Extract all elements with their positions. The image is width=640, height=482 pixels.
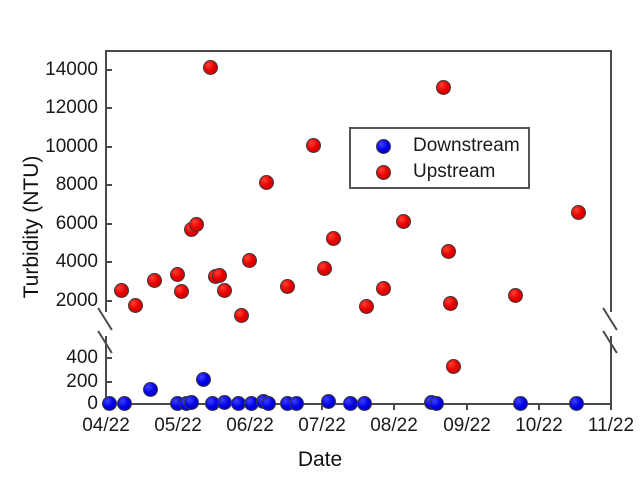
y-tick-14000 xyxy=(105,69,112,71)
y-tick-label-10000: 10000 xyxy=(45,137,98,156)
y-tick-label-12000: 12000 xyxy=(45,98,98,117)
y-tick-400 xyxy=(105,357,112,359)
data-point-upstream xyxy=(170,267,185,282)
x-tick-label-10-22: 10/22 xyxy=(499,416,579,435)
data-point-upstream xyxy=(114,283,129,298)
data-point-upstream xyxy=(376,281,391,296)
data-point-upstream xyxy=(396,214,411,229)
y-tick-10000 xyxy=(105,146,112,148)
x-tick-label-05-22: 05/22 xyxy=(138,416,218,435)
y-tick-4000 xyxy=(105,261,112,263)
x-tick-09-22 xyxy=(466,403,468,410)
data-point-downstream xyxy=(429,396,444,411)
y-axis-title: Turbidity (NTU) xyxy=(20,107,44,347)
chart-canvas: 14000 12000 10000 8000 6000 4000 2000 40… xyxy=(0,0,640,482)
y-tick-label-6000: 6000 xyxy=(56,214,98,233)
x-tick-label-11-22: 11/22 xyxy=(571,416,640,435)
legend-marker-upstream xyxy=(376,165,391,180)
y-tick-2000 xyxy=(105,300,112,302)
data-point-upstream xyxy=(571,205,586,220)
data-point-downstream xyxy=(143,382,158,397)
y-tick-label-400: 400 xyxy=(66,348,98,367)
data-point-upstream xyxy=(317,261,332,276)
data-point-upstream xyxy=(446,359,461,374)
x-tick-10-22 xyxy=(538,403,540,410)
x-tick-label-07-22: 07/22 xyxy=(282,416,362,435)
legend-item-upstream[interactable]: Upstream xyxy=(351,159,532,185)
x-tick-11-22 xyxy=(610,403,612,410)
legend-label-upstream: Upstream xyxy=(413,161,495,182)
y-tick-6000 xyxy=(105,223,112,225)
x-tick-label-08-22: 08/22 xyxy=(354,416,434,435)
data-point-downstream xyxy=(261,396,276,411)
data-point-downstream xyxy=(321,394,336,409)
data-point-upstream xyxy=(217,283,232,298)
y-tick-label-0: 0 xyxy=(87,394,98,413)
data-point-downstream xyxy=(357,396,372,411)
x-axis-title: Date xyxy=(0,448,640,472)
data-point-downstream xyxy=(196,372,211,387)
data-point-downstream xyxy=(343,396,358,411)
y-tick-200 xyxy=(105,381,112,383)
data-point-downstream xyxy=(117,396,132,411)
y-tick-label-2000: 2000 xyxy=(56,291,98,310)
data-point-upstream xyxy=(203,60,218,75)
y-tick-8000 xyxy=(105,184,112,186)
data-point-downstream xyxy=(513,396,528,411)
y-tick-label-200: 200 xyxy=(66,372,98,391)
data-point-upstream xyxy=(189,217,204,232)
data-point-upstream xyxy=(326,231,341,246)
y-tick-label-14000: 14000 xyxy=(45,60,98,79)
data-point-downstream xyxy=(217,395,232,410)
data-point-downstream xyxy=(289,396,304,411)
x-tick-label-09-22: 09/22 xyxy=(427,416,507,435)
data-point-upstream xyxy=(234,308,249,323)
chart-legend[interactable]: Downstream Upstream xyxy=(349,127,530,189)
legend-item-downstream[interactable]: Downstream xyxy=(351,133,532,159)
data-point-upstream xyxy=(508,288,523,303)
x-tick-label-06-22: 06/22 xyxy=(210,416,290,435)
y-tick-12000 xyxy=(105,107,112,109)
y-tick-label-8000: 8000 xyxy=(56,175,98,194)
data-point-downstream xyxy=(184,395,199,410)
data-point-upstream xyxy=(242,253,257,268)
x-tick-label-04-22: 04/22 xyxy=(66,416,146,435)
data-point-upstream xyxy=(280,279,295,294)
data-point-upstream xyxy=(306,138,321,153)
data-point-upstream xyxy=(212,268,227,283)
y-axis-break-stub-right-top xyxy=(610,300,612,312)
data-point-upstream xyxy=(259,175,274,190)
legend-marker-downstream xyxy=(376,139,391,154)
data-point-downstream xyxy=(102,396,117,411)
legend-label-downstream: Downstream xyxy=(413,135,520,156)
data-point-downstream xyxy=(569,396,584,411)
x-tick-08-22 xyxy=(393,403,395,410)
y-tick-label-4000: 4000 xyxy=(56,252,98,271)
plot-area-lower xyxy=(105,345,612,404)
